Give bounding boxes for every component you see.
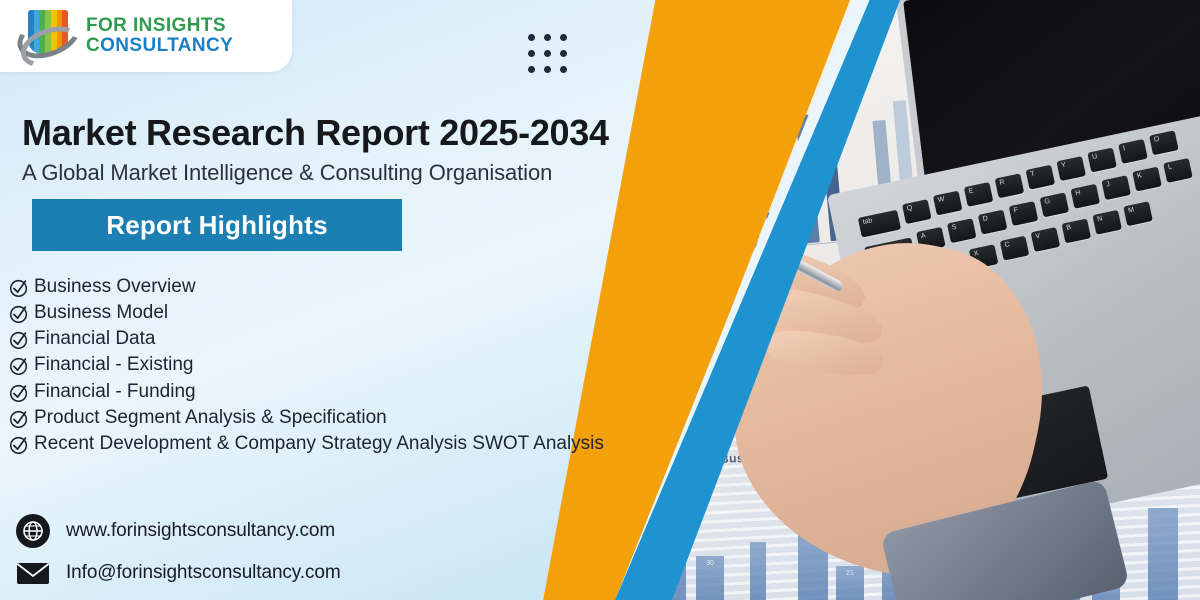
globe-icon xyxy=(16,514,50,548)
highlights-list: Business Overview Business Model Financi… xyxy=(8,275,648,458)
report-highlights-badge: Report Highlights xyxy=(32,199,402,251)
list-item-label: Business Model xyxy=(34,301,168,325)
marketing-banner: ASSETS(00) INCOME ANNUAL SUMMARY Total A… xyxy=(0,0,1200,600)
list-item-label: Product Segment Analysis & Specification xyxy=(34,406,387,430)
logo-line-2: CONSULTANCY xyxy=(86,36,233,56)
circled-check-icon xyxy=(8,434,30,456)
circled-check-icon xyxy=(8,329,30,351)
page-subtitle: A Global Market Intelligence & Consultin… xyxy=(22,160,552,186)
logo-line-2-rest: ONSULTANCY xyxy=(100,35,233,56)
envelope-icon xyxy=(16,556,50,590)
list-item: Product Segment Analysis & Specification xyxy=(8,406,648,430)
circled-check-icon xyxy=(8,382,30,404)
report-highlights-label: Report Highlights xyxy=(106,210,328,241)
circled-check-icon xyxy=(8,355,30,377)
list-item-label: Business Overview xyxy=(34,275,196,299)
logo-text: FOR INSIGHTS CONSULTANCY xyxy=(86,16,233,56)
list-item: Financial - Existing xyxy=(8,353,648,377)
list-item: Financial Data xyxy=(8,327,648,351)
list-item-label: Recent Development & Company Strategy An… xyxy=(34,432,604,456)
circled-check-icon xyxy=(8,408,30,430)
logo-line-2-initial: C xyxy=(86,35,100,56)
website-contact[interactable]: www.forinsightsconsultancy.com xyxy=(16,514,335,548)
list-item: Business Model xyxy=(8,301,648,325)
list-item: Business Overview xyxy=(8,275,648,299)
list-item-label: Financial - Existing xyxy=(34,353,193,377)
bar-chart-globe-logo-icon xyxy=(14,6,80,66)
logo-card[interactable]: FOR INSIGHTS CONSULTANCY xyxy=(0,0,292,72)
dot-grid-icon xyxy=(528,34,576,82)
list-item-label: Financial Data xyxy=(34,327,155,351)
circled-check-icon xyxy=(8,303,30,325)
website-label: www.forinsightsconsultancy.com xyxy=(66,520,335,542)
page-title: Market Research Report 2025-2034 xyxy=(22,112,609,154)
email-label: Info@forinsightsconsultancy.com xyxy=(66,562,341,584)
list-item: Recent Development & Company Strategy An… xyxy=(8,432,648,456)
list-item: Financial - Funding xyxy=(8,380,648,404)
circled-check-icon xyxy=(8,277,30,299)
list-item-label: Financial - Funding xyxy=(34,380,196,404)
logo-line-1: FOR INSIGHTS xyxy=(86,16,233,36)
email-contact[interactable]: Info@forinsightsconsultancy.com xyxy=(16,556,341,590)
